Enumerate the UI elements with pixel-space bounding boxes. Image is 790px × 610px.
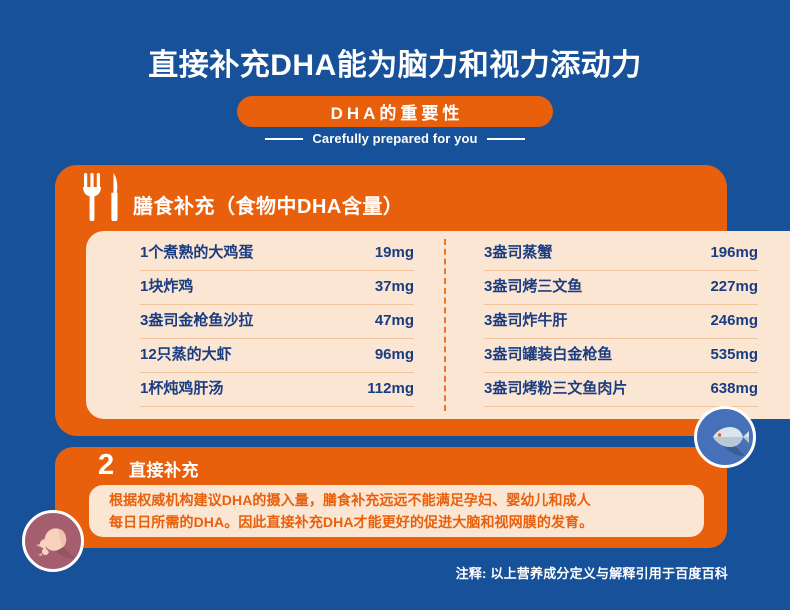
food-amount: 246mg bbox=[710, 312, 758, 329]
table-row: 3盎司烤三文鱼 227mg bbox=[484, 271, 758, 305]
food-name: 3盎司罐装白金枪鱼 bbox=[484, 343, 612, 364]
body-line-1: 根据权威机构建议DHA的摄入量，膳食补充远远不能满足孕妇、婴幼儿和成人 bbox=[109, 489, 684, 511]
food-amount: 227mg bbox=[710, 278, 758, 295]
table-row: 3盎司烤粉三文鱼肉片 638mg bbox=[484, 373, 758, 407]
dietary-supplement-card: 膳食补充（食物中DHA含量） 1个煮熟的大鸡蛋 19mg 1块炸鸡 37mg 3… bbox=[55, 165, 727, 436]
dietary-card-heading: 膳食补充（食物中DHA含量） bbox=[133, 190, 403, 219]
body-line-2: 每日日所需的DHA。因此直接补充DHA才能更好的促进大脑和视网膜的发育。 bbox=[109, 511, 684, 533]
food-name: 1块炸鸡 bbox=[140, 275, 193, 296]
food-amount: 196mg bbox=[710, 244, 758, 261]
roast-chicken-icon bbox=[22, 510, 84, 572]
fish-icon bbox=[694, 406, 756, 468]
footnote: 注释: 以上营养成分定义与解释引用于百度百科 bbox=[456, 563, 728, 582]
tagline-rule-right bbox=[487, 138, 525, 140]
food-name: 3盎司蒸蟹 bbox=[484, 241, 552, 262]
table-row: 1杯炖鸡肝汤 112mg bbox=[140, 373, 414, 407]
food-name: 3盎司烤三文鱼 bbox=[484, 275, 582, 296]
fork-and-knife-icon bbox=[80, 173, 126, 221]
table-row: 1块炸鸡 37mg bbox=[140, 271, 414, 305]
food-name: 1杯炖鸡肝汤 bbox=[140, 377, 223, 398]
food-amount: 37mg bbox=[375, 278, 414, 295]
food-name: 3盎司烤粉三文鱼肉片 bbox=[484, 377, 627, 398]
table-row: 3盎司蒸蟹 196mg bbox=[484, 237, 758, 271]
food-list-left: 1个煮熟的大鸡蛋 19mg 1块炸鸡 37mg 3盎司金枪鱼沙拉 47mg 12… bbox=[140, 237, 414, 407]
food-amount: 535mg bbox=[710, 346, 758, 363]
food-name: 3盎司金枪鱼沙拉 bbox=[140, 309, 253, 330]
table-row: 1个煮熟的大鸡蛋 19mg bbox=[140, 237, 414, 271]
food-list-panel: 1个煮熟的大鸡蛋 19mg 1块炸鸡 37mg 3盎司金枪鱼沙拉 47mg 12… bbox=[86, 231, 790, 419]
food-amount: 19mg bbox=[375, 244, 414, 261]
food-name: 12只蒸的大虾 bbox=[140, 343, 232, 364]
food-amount: 638mg bbox=[710, 380, 758, 397]
food-list-right: 3盎司蒸蟹 196mg 3盎司烤三文鱼 227mg 3盎司炸牛肝 246mg 3… bbox=[484, 237, 758, 407]
table-row: 3盎司罐装白金枪鱼 535mg bbox=[484, 339, 758, 373]
food-amount: 47mg bbox=[375, 312, 414, 329]
food-name: 3盎司炸牛肝 bbox=[484, 309, 567, 330]
section-badge: DHA的重要性 bbox=[237, 96, 553, 127]
food-amount: 112mg bbox=[367, 380, 414, 397]
page-title: 直接补充DHA能为脑力和视力添动力 bbox=[0, 47, 790, 85]
direct-supplement-card: 2 直接补充 根据权威机构建议DHA的摄入量，膳食补充远远不能满足孕妇、婴幼儿和… bbox=[55, 447, 727, 548]
column-divider bbox=[444, 239, 446, 411]
tagline: Carefully prepared for you bbox=[0, 131, 790, 146]
tagline-text: Carefully prepared for you bbox=[312, 131, 477, 146]
table-row: 3盎司金枪鱼沙拉 47mg bbox=[140, 305, 414, 339]
table-row: 3盎司炸牛肝 246mg bbox=[484, 305, 758, 339]
section-badge-label: DHA的重要性 bbox=[327, 99, 464, 124]
direct-supplement-panel: 根据权威机构建议DHA的摄入量，膳食补充远远不能满足孕妇、婴幼儿和成人 每日日所… bbox=[89, 485, 704, 537]
poster-root: 直接补充DHA能为脑力和视力添动力 DHA的重要性 Carefully prep… bbox=[0, 0, 790, 610]
tagline-rule-left bbox=[265, 138, 303, 140]
direct-supplement-heading: 直接补充 bbox=[129, 456, 199, 481]
step-number: 2 bbox=[98, 448, 114, 482]
food-name: 1个煮熟的大鸡蛋 bbox=[140, 241, 253, 262]
food-amount: 96mg bbox=[375, 346, 414, 363]
table-row: 12只蒸的大虾 96mg bbox=[140, 339, 414, 373]
